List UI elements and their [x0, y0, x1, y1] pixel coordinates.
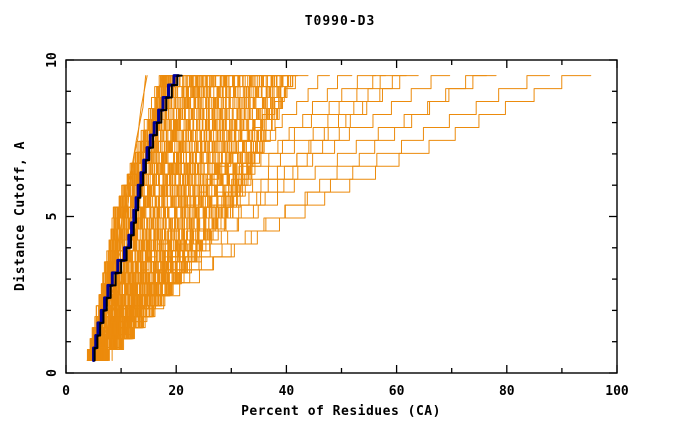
chart-canvas: 0204060801000510 Percent of Residues (CA…: [0, 0, 680, 440]
x-tick-label: 100: [605, 384, 629, 399]
plot-frame: [66, 60, 617, 373]
axis-ticks: [66, 60, 617, 373]
y-tick-label: 0: [45, 369, 60, 377]
y-tick-label: 5: [45, 213, 60, 221]
x-tick-label: 20: [168, 384, 184, 399]
x-tick-label: 0: [62, 384, 70, 399]
x-tick-label: 80: [499, 384, 515, 399]
x-axis-label: Percent of Residues (CA): [241, 404, 441, 419]
line-chart: 0204060801000510 Percent of Residues (CA…: [0, 0, 680, 440]
figure-root: T0990-D3 0204060801000510 Percent of Res…: [0, 0, 680, 440]
x-tick-label: 40: [279, 384, 295, 399]
y-tick-label: 10: [45, 52, 60, 68]
x-tick-label: 60: [389, 384, 405, 399]
y-axis-label: Distance Cutoff, A: [13, 141, 28, 291]
